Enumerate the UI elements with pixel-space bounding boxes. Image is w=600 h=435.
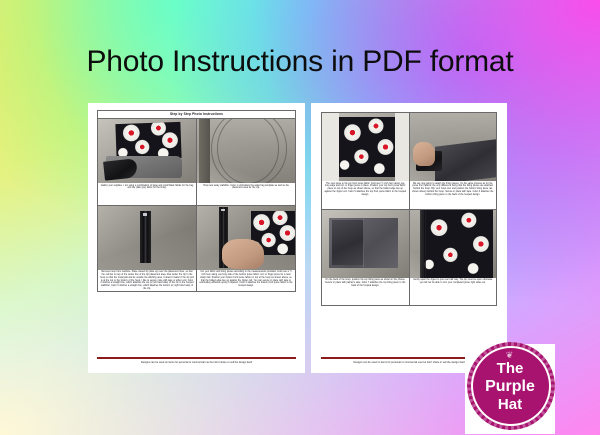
photo-hand-attaching-lining-piece xyxy=(410,113,497,181)
logo-line-3: Hat xyxy=(465,396,555,414)
logo-line-2: Purple xyxy=(465,377,555,396)
grid-cell: Hoop tear away stabilizer. Color 1 embro… xyxy=(197,119,296,206)
photo-caption: Hoop tear away stabilizer. Color 1 embro… xyxy=(197,183,295,205)
document-title: Step by Step Photo Instructions xyxy=(97,110,296,118)
logo-line-1: The xyxy=(465,360,555,377)
photo-caption: Remove hoop from machine. Place closed z… xyxy=(98,270,196,292)
page-title: Photo Instructions in PDF format xyxy=(0,45,600,79)
grid-cell: Gather your supplies. I am using a combi… xyxy=(98,119,197,206)
photo-folded-lining-pieces-on-hoop-back xyxy=(322,210,409,278)
table-row: On the back of the hoop, position the to… xyxy=(322,209,497,306)
photo-zipper-placed-on-hooped-stabilizer xyxy=(98,206,196,270)
photo-caption: Cut your fabric and lining pieces accord… xyxy=(197,270,295,292)
page-content-right: The next piece is the top front purse fa… xyxy=(311,103,507,373)
logo-flourish-icon: ❦ xyxy=(465,351,555,360)
photo-zipper-opened-half-way-on-floral xyxy=(410,210,497,278)
photo-caption: On the back of the hoop, position the to… xyxy=(322,278,409,306)
page-content-left: Step by Step Photo Instructions Gather y… xyxy=(88,103,305,373)
photo-caption: Gently apart the zipper to just over hal… xyxy=(410,278,497,306)
photo-caption: Gather your supplies. I am using a combi… xyxy=(98,183,196,205)
footer-text: Designs can be used on items for persona… xyxy=(97,361,296,364)
photo-supplies-floral-and-gray-fabric xyxy=(98,119,196,183)
table-row: Remove hoop from machine. Place closed z… xyxy=(98,205,296,292)
grid-cell: Remove hoop from machine. Place closed z… xyxy=(98,205,197,292)
table-row: The next piece is the top front purse fa… xyxy=(322,113,497,210)
table-row: Gather your supplies. I am using a combi… xyxy=(98,119,296,206)
photo-instruction-grid-left: Gather your supplies. I am using a combi… xyxy=(97,118,296,292)
grid-cell: On the back of the hoop, position the to… xyxy=(322,209,410,306)
grid-cell: Cut your fabric and lining pieces accord… xyxy=(197,205,296,292)
grid-cell: Gently apart the zipper to just over hal… xyxy=(409,209,497,306)
screenshot-canvas: Photo Instructions in PDF format Step by… xyxy=(0,0,600,435)
photo-caption: The next piece is the top front purse fa… xyxy=(322,181,409,209)
photo-instruction-grid-right: The next piece is the top front purse fa… xyxy=(321,112,497,306)
grid-cell: The next piece is the top front purse fa… xyxy=(322,113,410,210)
logo-wordmark: The Purple Hat xyxy=(465,360,555,414)
pdf-page-left[interactable]: Step by Step Photo Instructions Gather y… xyxy=(88,103,305,373)
page-footer-left: Designs can be used on items for persona… xyxy=(97,357,296,364)
grid-cell: We are now going to attach the lining pi… xyxy=(409,113,497,210)
photo-top-front-purse-fabric-floral xyxy=(322,113,409,181)
photo-hooped-stabilizer-with-placement-lines xyxy=(197,119,295,183)
photo-bottom-front-purse-fabric-being-placed xyxy=(197,206,295,270)
photo-caption: We are now going to attach the lining pi… xyxy=(410,181,497,209)
footer-rule xyxy=(97,357,296,359)
pdf-page-right[interactable]: The next piece is the top front purse fa… xyxy=(311,103,507,373)
the-purple-hat-logo[interactable]: ❦ The Purple Hat xyxy=(465,344,555,434)
